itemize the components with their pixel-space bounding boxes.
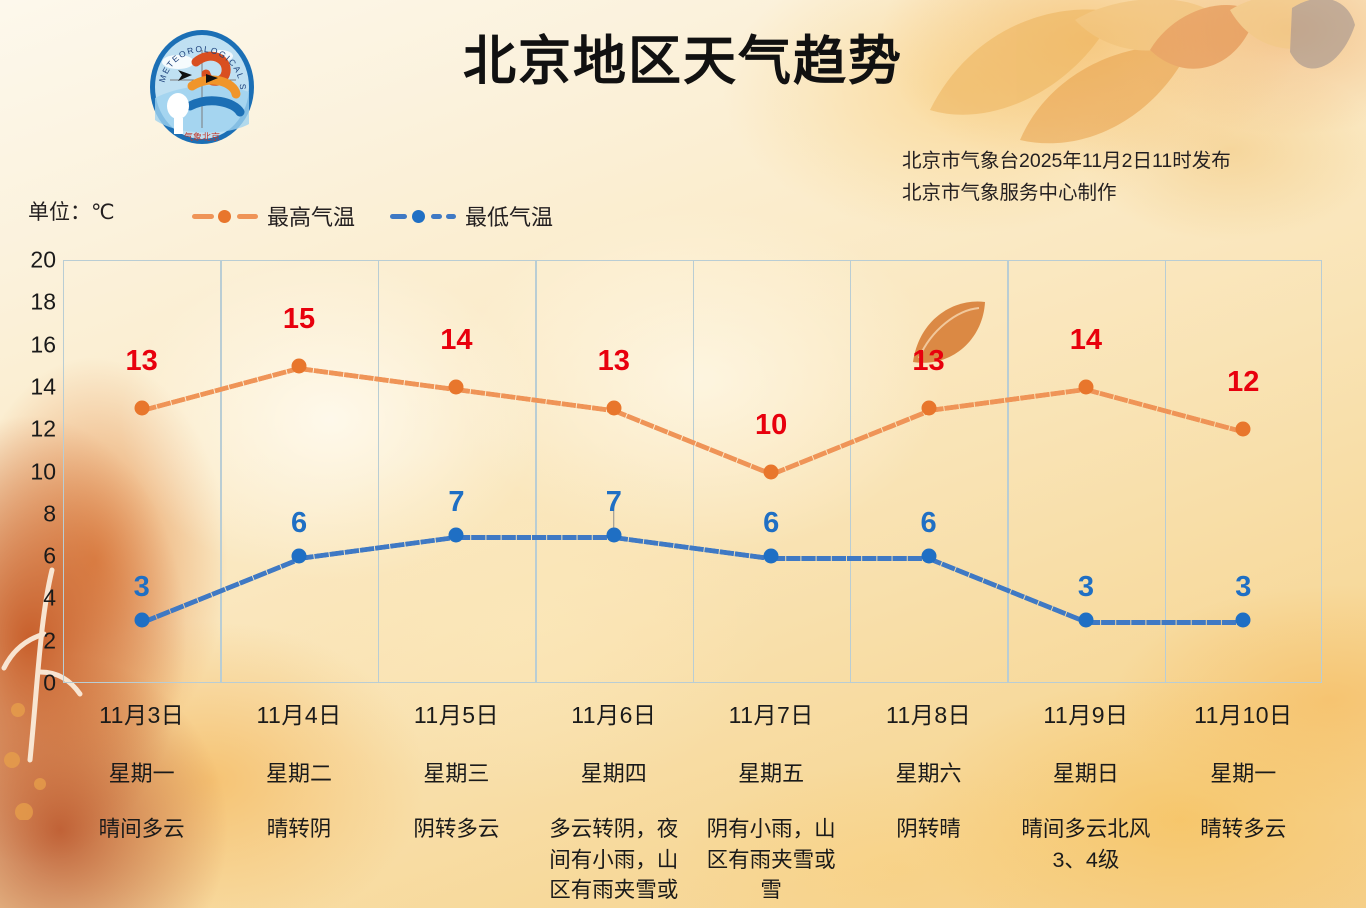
- day-date: 11月5日: [384, 696, 529, 730]
- weather-trend-poster: 气象北京 METEOROLOGICAL SERVICE 北京地区天气趋势 北京市…: [0, 0, 1366, 908]
- day-column: 11月7日星期五阴有小雨，山区有雨夹雪或雪: [693, 690, 850, 905]
- y-axis-tick-label: 2: [12, 627, 56, 654]
- grid-line-vertical: [850, 260, 852, 683]
- chart-data-point: [606, 401, 621, 416]
- chart-line-segment: [1086, 620, 1243, 625]
- legend-item-high-temp: 最高气温: [192, 200, 355, 232]
- chart-data-label: 6: [763, 507, 779, 540]
- day-column: 11月10日星期一晴转多云: [1165, 690, 1322, 905]
- y-axis-tick-label: 14: [12, 373, 56, 400]
- day-weather-description: 阴转晴: [856, 814, 1001, 845]
- chart-data-label: 13: [912, 345, 944, 378]
- day-date: 11月8日: [856, 696, 1001, 730]
- day-weather-description: 晴间多云: [69, 814, 214, 845]
- chart-line-segment: [456, 535, 613, 540]
- day-weather-description: 晴转阴: [226, 814, 371, 845]
- issuer-line-2: 北京市气象服务中心制作: [902, 178, 1231, 210]
- day-date: 11月3日: [69, 696, 214, 730]
- y-axis-tick-label: 18: [12, 289, 56, 316]
- chart-data-point: [134, 401, 149, 416]
- chart-data-point: [292, 549, 307, 564]
- chart-data-point: [921, 401, 936, 416]
- day-column: 11月6日星期四多云转阴，夜间有小雨，山区有雨夹雪或雪: [535, 690, 692, 905]
- chart-data-point: [134, 612, 149, 627]
- chart-data-label: 3: [134, 571, 150, 604]
- day-weather-description: 阴有小雨，山区有雨夹雪或雪: [699, 814, 844, 906]
- y-axis-tick-label: 16: [12, 331, 56, 358]
- grid-line-vertical: [378, 260, 380, 683]
- y-axis-tick-label: 10: [12, 458, 56, 485]
- chart-data-label: 13: [598, 345, 630, 378]
- grid-line-vertical: [535, 260, 537, 683]
- day-weekday: 星期一: [69, 756, 214, 788]
- chart-data-label: 7: [606, 486, 622, 519]
- chart-data-label: 12: [1227, 366, 1259, 399]
- page-title: 北京地区天气趋势: [0, 32, 1366, 93]
- day-weather-description: 阴转多云: [384, 814, 529, 845]
- day-column: 11月5日星期三阴转多云: [378, 690, 535, 905]
- chart-data-point: [1236, 612, 1251, 627]
- chart-data-label: 3: [1235, 571, 1251, 604]
- chart-data-point: [449, 379, 464, 394]
- legend-swatch-high-temp: [192, 209, 258, 223]
- chart-data-point: [764, 549, 779, 564]
- chart-data-label: 6: [920, 507, 936, 540]
- day-date: 11月9日: [1013, 696, 1158, 730]
- legend-label-low-temp: 最低气温: [465, 200, 553, 232]
- chart-data-point: [764, 464, 779, 479]
- day-weekday: 星期四: [541, 756, 686, 788]
- day-weather-description: 晴转多云: [1171, 814, 1316, 845]
- y-axis-tick-label: 20: [12, 247, 56, 274]
- chart-data-point: [1078, 379, 1093, 394]
- y-axis-tick-label: 8: [12, 500, 56, 527]
- day-date: 11月6日: [541, 696, 686, 730]
- chart-data-label: 3: [1078, 571, 1094, 604]
- chart-data-point: [449, 527, 464, 542]
- day-weekday: 星期一: [1171, 756, 1316, 788]
- day-columns: 11月3日星期一晴间多云11月4日星期二晴转阴11月5日星期三阴转多云11月6日…: [63, 690, 1322, 905]
- day-date: 11月4日: [226, 696, 371, 730]
- day-column: 11月3日星期一晴间多云: [63, 690, 220, 905]
- y-axis-tick-label: 6: [12, 543, 56, 570]
- chart-data-label: 15: [283, 303, 315, 336]
- chart-data-label: 10: [755, 409, 787, 442]
- chart-data-label: 14: [440, 324, 472, 357]
- day-date: 11月7日: [699, 696, 844, 730]
- y-axis-tick-label: 0: [12, 670, 56, 697]
- day-weekday: 星期日: [1013, 756, 1158, 788]
- unit-label: 单位：℃: [28, 196, 115, 226]
- temperature-chart: 367766331315141310131412: [63, 260, 1322, 683]
- day-column: 11月4日星期二晴转阴: [220, 690, 377, 905]
- y-axis-tick-label: 4: [12, 585, 56, 612]
- y-axis: 02468101214161820: [4, 260, 56, 683]
- chart-data-point: [606, 527, 621, 542]
- legend-label-high-temp: 最高气温: [267, 200, 355, 232]
- grid-line-vertical: [1007, 260, 1009, 683]
- grid-line-vertical: [220, 260, 222, 683]
- day-weather-description: 多云转阴，夜间有小雨，山区有雨夹雪或雪: [541, 814, 686, 908]
- legend-item-low-temp: 最低气温: [390, 200, 553, 232]
- issuer-line-1: 北京市气象台2025年11月2日11时发布: [902, 146, 1231, 178]
- chart-line-segment: [771, 556, 928, 561]
- chart-data-label: 13: [126, 345, 158, 378]
- y-axis-tick-label: 12: [12, 416, 56, 443]
- day-date: 11月10日: [1171, 696, 1316, 730]
- chart-data-label: 7: [448, 486, 464, 519]
- chart-data-point: [292, 358, 307, 373]
- day-weekday: 星期三: [384, 756, 529, 788]
- day-column: 11月8日星期六阴转晴: [850, 690, 1007, 905]
- day-weekday: 星期五: [699, 756, 844, 788]
- day-weekday: 星期六: [856, 756, 1001, 788]
- chart-data-point: [1236, 422, 1251, 437]
- grid-line-vertical: [693, 260, 695, 683]
- svg-text:气象北京: 气象北京: [184, 131, 220, 142]
- day-weather-description: 晴间多云北风3、4级: [1013, 814, 1158, 875]
- day-column: 11月9日星期日晴间多云北风3、4级: [1007, 690, 1164, 905]
- chart-data-label: 6: [291, 507, 307, 540]
- day-weekday: 星期二: [226, 756, 371, 788]
- chart-data-point: [921, 549, 936, 564]
- chart-data-label: 14: [1070, 324, 1102, 357]
- legend-swatch-low-temp: [390, 209, 456, 223]
- chart-data-point: [1078, 612, 1093, 627]
- issuer-info: 北京市气象台2025年11月2日11时发布 北京市气象服务中心制作: [902, 146, 1231, 209]
